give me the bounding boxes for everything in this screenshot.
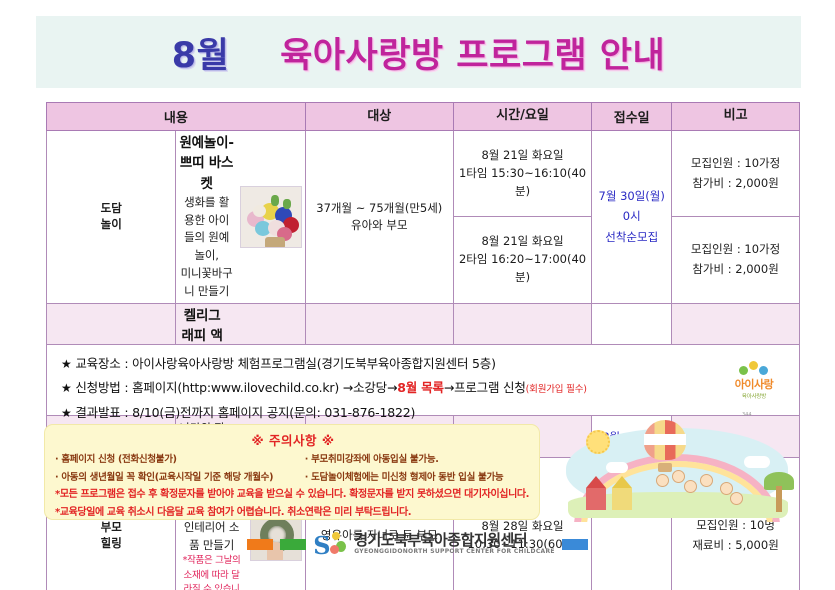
footer: S 경기도북부육아종합지원센터 GYEONGGIDONORTH SUPPORT …: [0, 524, 835, 564]
category-line1: 도담: [50, 201, 172, 217]
ilovechild-sub: 육아사랑방: [723, 392, 785, 400]
pencil-house-yellow: [612, 476, 632, 510]
time-date: 8월 21일 화요일: [457, 233, 588, 251]
caution-box: ※ 주의사항 ※ · 홈페이지 신청 (전화신청불가) · 아동의 생년월일 꼭…: [44, 424, 540, 520]
target-cell-dodam: 37개월 ~ 75개월(만5세) 유아와 부모: [305, 131, 453, 304]
info-value-location: 아이사랑육아사랑방 체험프로그램실(경기도북부육아종합지원센터 5층): [132, 356, 496, 371]
col-header-target: 대상: [305, 103, 453, 131]
scan-id-mark: 344: [742, 412, 752, 418]
poster-root: 8월 육아사랑방 프로그램 안내 내용 대상 시간/요일 접수일 비고 도담 놀…: [0, 0, 835, 590]
ilovechild-arc-icon: [737, 361, 771, 375]
time-detail: 1타임 15:30~16:10(40분): [457, 165, 588, 201]
children-illustration: [548, 418, 800, 522]
info-label-location: 교육장소: [75, 356, 120, 371]
footer-name-kr: 경기도북부육아종합지원센터: [354, 533, 555, 549]
note-capacity: 모집인원 : 10가정: [675, 154, 796, 174]
info-box: ★ 교육장소 : 아이사랑육아사랑방 체험프로그램실(경기도북부육아종합지원센터…: [46, 344, 800, 416]
sun-icon: [586, 430, 610, 454]
balloon-basket: [658, 463, 672, 472]
time-date: 8월 21일 화요일: [457, 147, 588, 165]
caution-item: · 아동의 생년월일 꼭 확인(교육시작일 기준 해당 개월수): [55, 469, 301, 487]
footer-bar-orange: [247, 539, 273, 550]
bouquet-photo: [240, 186, 302, 248]
program-desc-line2: 미니꽃바구니 만들기: [179, 265, 233, 301]
info-value-result: 8/10(금)전까지 홈페이지 공지(문의: 031-876-1822): [132, 405, 415, 420]
caution-item: · 홈페이지 신청 (전화신청불가): [55, 451, 301, 469]
note-capacity: 모집인원 : 10가정: [675, 240, 796, 260]
table-row: 도담 놀이 원예놀이-쁘띠 바스켓 생화를 활용한 아이들의 원예놀이, 미니꽃…: [47, 131, 800, 217]
col-header-content: 내용: [47, 103, 306, 131]
info-line-location: ★ 교육장소 : 아이사랑육아사랑방 체험프로그램실(경기도북부육아종합지원센터…: [61, 352, 785, 376]
title-rest: 육아사랑방 프로그램 안내: [280, 36, 665, 76]
caution-col-left: · 홈페이지 신청 (전화신청불가) · 아동의 생년월일 꼭 확인(교육시작일…: [55, 451, 301, 486]
category-dodam: 도담 놀이: [47, 131, 176, 304]
caution-item: · 부모취미강좌에 아동입실 불가능.: [305, 451, 531, 469]
receipt-hour: 0시: [595, 206, 668, 227]
logo-blob-red: [330, 545, 339, 554]
time-cell-2: 8월 21일 화요일 2타임 16:20~17:00(40분): [453, 217, 591, 303]
star-icon: ★: [61, 381, 72, 395]
kid-figure: [684, 480, 697, 493]
col-header-note: 비고: [672, 103, 800, 131]
balloon-band: [644, 434, 686, 445]
kid-figure: [700, 474, 713, 487]
time-cell-1: 8월 21일 화요일 1타임 15:30~16:10(40분): [453, 131, 591, 217]
info-line-apply: ★ 신청방법 : 홈페이지(http:www.ilovechild.co.kr)…: [61, 376, 785, 400]
footer-name-en: GYEONGGIDONORTH SUPPORT CENTER FOR CHILD…: [354, 549, 555, 555]
kid-figure: [672, 470, 685, 483]
kid-figure: [656, 474, 669, 487]
info-value-apply-part2: →프로그램 신청: [444, 380, 526, 395]
caution-col-right: · 부모취미강좌에 아동입실 불가능. · 도담놀이체험에는 미신청 형제아 동…: [305, 451, 531, 486]
content-cell-dodam: 원예놀이-쁘띠 바스켓 생화를 활용한 아이들의 원예놀이, 미니꽃바구니 만들…: [176, 131, 305, 304]
cloud-icon: [744, 456, 770, 468]
table-header-row: 내용 대상 시간/요일 접수일 비고: [47, 103, 800, 131]
ilovechild-name: 아이사랑: [723, 376, 785, 392]
cloud-icon: [606, 462, 628, 473]
program-desc-line1: 생화를 활용한 아이들의 원예놀이,: [179, 194, 233, 265]
note-cell-2: 모집인원 : 10가정 참가비 : 2,000원: [672, 217, 800, 303]
footer-bar-green: [280, 539, 306, 550]
info-label-apply: 신청방법: [75, 380, 120, 395]
info-value-apply-part1: 홈페이지(http:www.ilovechild.co.kr) →소강당→: [132, 380, 397, 395]
caution-warning: *모든 프로그램은 접수 후 확정문자를 받아야 교육을 받으실 수 있습니다.…: [55, 486, 531, 504]
table-head: 내용 대상 시간/요일 접수일 비고: [47, 103, 800, 131]
pencil-house-red: [586, 476, 606, 510]
footer-bar-blue: [562, 539, 588, 550]
info-value-apply-highlight: 8월 목록: [397, 380, 444, 395]
receipt-date: 7월 30일(월): [595, 186, 668, 207]
tree-trunk: [776, 486, 782, 512]
star-icon: ★: [61, 406, 72, 420]
category-line2: 놀이: [50, 217, 172, 233]
info-label-result: 결과발표: [75, 405, 120, 420]
receipt-method: 선착순모집: [595, 227, 668, 248]
page-title: 8월 육아사랑방 프로그램 안내: [172, 27, 665, 78]
title-banner: 8월 육아사랑방 프로그램 안내: [36, 16, 801, 88]
receipt-cell-dodam: 7월 30일(월) 0시 선착순모집: [592, 131, 672, 304]
title-month: 8월: [172, 36, 230, 76]
note-fee: 참가비 : 2,000원: [675, 174, 796, 194]
star-icon: ★: [61, 357, 72, 371]
ilovechild-logo: 아이사랑 육아사랑방: [723, 361, 785, 401]
footer-name-block: 경기도북부육아종합지원센터 GYEONGGIDONORTH SUPPORT CE…: [354, 533, 555, 555]
time-detail: 2타임 16:20~17:00(40분): [457, 251, 588, 287]
logo-blob-yellow: [332, 532, 340, 540]
center-logo-mark: S: [313, 531, 347, 557]
info-value-apply-required: (회원가입 필수): [526, 384, 587, 395]
target-line2: 유아와 부모: [309, 217, 450, 234]
logo-letter-s: S: [313, 534, 330, 558]
col-header-receipt: 접수일: [592, 103, 672, 131]
target-line1: 37개월 ~ 75개월(만5세): [309, 200, 450, 217]
col-header-time: 시간/요일: [453, 103, 591, 131]
kid-figure: [730, 492, 743, 505]
note-cell-1: 모집인원 : 10가정 참가비 : 2,000원: [672, 131, 800, 217]
program-title: 원예놀이-쁘띠 바스켓: [179, 133, 233, 194]
caution-warning: *교육당일에 교육 취소시 다음달 교육 참여가 어렵습니다. 취소연락은 미리…: [55, 504, 531, 522]
caution-title: ※ 주의사항 ※: [55, 430, 531, 449]
note-fee: 참가비 : 2,000원: [675, 260, 796, 280]
caution-item: · 도담놀이체험에는 미신청 형제아 동반 입실 불가능: [305, 469, 531, 487]
